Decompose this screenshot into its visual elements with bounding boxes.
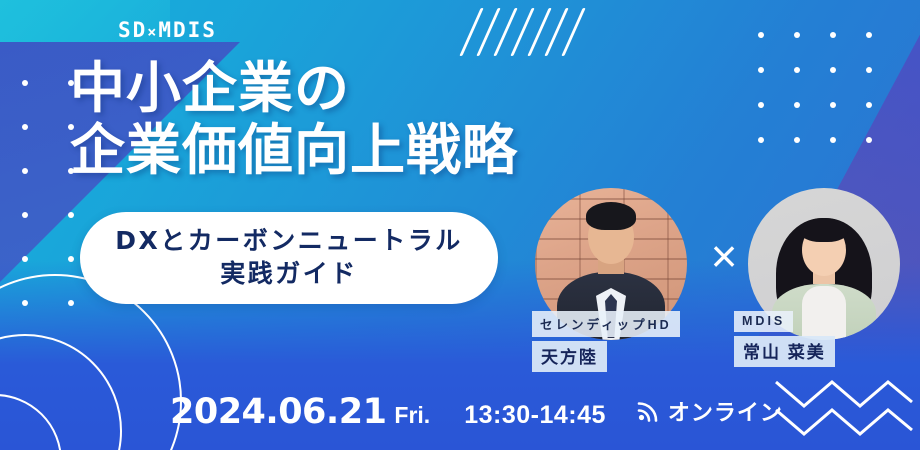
title-line-2: 企業価値向上戦略 <box>70 120 518 182</box>
subtitle-pill: DXとカーボンニュートラル 実践ガイド <box>80 212 498 304</box>
speaker-left-labels: セレンディップHD 天方陸 <box>532 311 680 372</box>
title-line-1: 中小企業の <box>70 58 518 120</box>
subtitle-line-2: 実践ガイド <box>80 257 498 290</box>
diagonal-slashes-decoration <box>470 8 575 56</box>
right-dot-grid <box>758 32 902 172</box>
logo-cross-icon: × <box>147 23 158 41</box>
speaker-right-org: MDIS <box>734 311 793 332</box>
speaker-left-name: 天方陸 <box>532 341 607 372</box>
webinar-banner: SD×MDIS 中小企業の 企業価値向上戦略 DXとカーボンニュートラル 実践ガ… <box>0 0 920 450</box>
speaker-right-name: 常山 菜美 <box>734 336 835 367</box>
event-date: 2024.06.21 <box>170 392 386 432</box>
wifi-broadcast-icon <box>636 399 660 423</box>
speaker-right-bangs <box>800 218 848 242</box>
event-mode: オンライン <box>636 395 783 427</box>
zigzag-lines-decoration <box>774 372 914 438</box>
event-time: 13:30-14:45 <box>464 401 606 430</box>
event-schedule: 2024.06.21 Fri. 13:30-14:45 オンライン <box>170 392 783 432</box>
subtitle-line-1: DXとカーボンニュートラル <box>80 224 498 257</box>
logo-suffix: MDIS <box>158 18 217 42</box>
sd-mdis-logo: SD×MDIS <box>118 18 217 42</box>
speaker-separator-x: × <box>700 232 748 280</box>
speaker-left-org: セレンディップHD <box>532 311 680 337</box>
logo-prefix: SD <box>118 18 147 42</box>
speaker-left-hair <box>586 202 636 230</box>
event-weekday: Fri. <box>394 402 430 429</box>
event-mode-label: オンライン <box>668 395 783 427</box>
speaker-right-labels: MDIS 常山 菜美 <box>734 311 835 367</box>
page-title: 中小企業の 企業価値向上戦略 <box>70 58 518 181</box>
